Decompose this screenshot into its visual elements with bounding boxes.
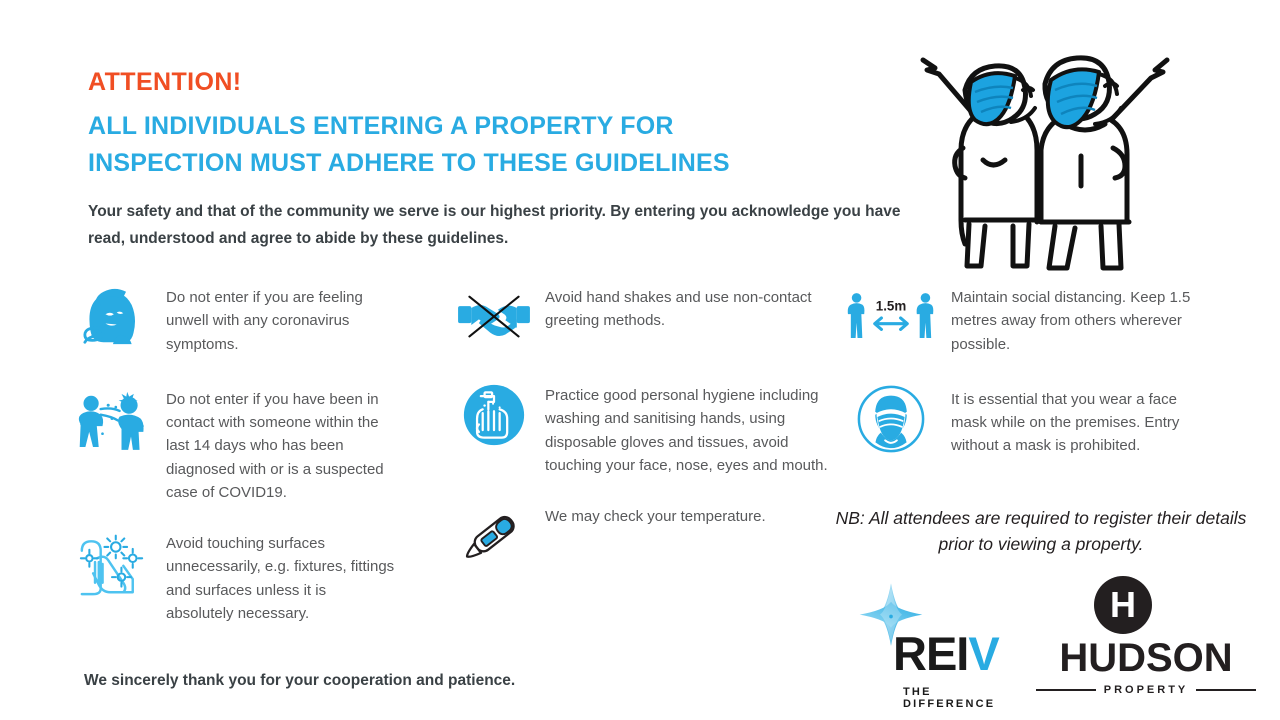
guideline-item: Do not enter if you are feeling unwell w… <box>72 282 412 356</box>
face-mask-person-icon <box>845 384 937 454</box>
hudson-property-logo: H HUDSON PROPERTY <box>1036 576 1256 706</box>
guideline-text: It is essential that you wear a face mas… <box>937 384 1191 458</box>
guideline-text: We may check your temperature. <box>533 501 845 528</box>
rule-left <box>1036 689 1096 691</box>
reiv-word-accent: V <box>968 627 998 680</box>
no-handshake-icon <box>455 282 533 352</box>
guideline-text: Maintain social distancing. Keep 1.5 met… <box>937 282 1191 356</box>
guideline-item: Avoid touching surfaces unnecessarily, e… <box>72 528 412 625</box>
thank-you-text: We sincerely thank you for your cooperat… <box>84 672 515 690</box>
headline-line-2: INSPECTION MUST ADHERE TO THESE GUIDELIN… <box>88 145 808 182</box>
logos-row: REIV THE DIFFERENCE H HUDSON PROPERTY <box>840 572 1260 712</box>
reiv-logo: REIV THE DIFFERENCE <box>845 580 1025 705</box>
guideline-text: Avoid touching surfaces unnecessarily, e… <box>152 528 396 625</box>
hudson-wordmark: HUDSON <box>1036 638 1256 678</box>
guideline-item: Practice good personal hygiene including… <box>455 380 855 477</box>
registration-note: NB: All attendees are required to regist… <box>826 505 1256 558</box>
guideline-text: Practice good personal hygiene including… <box>533 380 845 477</box>
guideline-item: Avoid hand shakes and use non-contact gr… <box>455 282 855 352</box>
reiv-tagline: THE DIFFERENCE <box>903 686 1025 710</box>
hudson-h-badge-icon: H <box>1094 576 1152 634</box>
guideline-item: We may check your temperature. <box>455 501 855 571</box>
social-distancing-icon: 1.5m <box>845 282 937 352</box>
hand-washing-tap-icon <box>455 380 533 450</box>
hudson-subtitle-row: PROPERTY <box>1036 684 1256 696</box>
main-headline: ALL INDIVIDUALS ENTERING A PROPERTY FOR … <box>88 108 808 182</box>
attention-heading: ATTENTION! <box>88 70 242 95</box>
person-sneezing-contact-icon <box>72 384 152 454</box>
headline-line-1: ALL INDIVIDUALS ENTERING A PROPERTY FOR <box>88 112 674 140</box>
guideline-text: Avoid hand shakes and use non-contact gr… <box>533 282 845 333</box>
guideline-item: 1.5m Maintain social distancing. Keep 1.… <box>845 282 1255 356</box>
guidelines-column-3: 1.5m Maintain social distancing. Keep 1.… <box>845 282 1255 482</box>
covid-safety-poster: ATTENTION! ALL INDIVIDUALS ENTERING A PR… <box>0 0 1280 720</box>
guideline-item: It is essential that you wear a face mas… <box>845 384 1255 458</box>
guidelines-column-1: Do not enter if you are feeling unwell w… <box>72 282 412 649</box>
hudson-subtitle: PROPERTY <box>1104 684 1189 696</box>
guideline-text: Do not enter if you have been in contact… <box>152 384 396 504</box>
guideline-text: Do not enter if you are feeling unwell w… <box>152 282 396 356</box>
hand-on-handrail-virus-icon <box>72 528 152 598</box>
distance-label: 1.5m <box>876 298 907 313</box>
hudson-badge-letter: H <box>1110 587 1136 623</box>
thermometer-icon <box>455 501 533 571</box>
reiv-wordmark: REIV <box>893 630 999 677</box>
two-people-masks-celebrating-illustration <box>905 38 1185 273</box>
reiv-word-main: REI <box>893 627 968 680</box>
person-coughing-icon <box>72 282 152 352</box>
guideline-item: Do not enter if you have been in contact… <box>72 384 412 504</box>
intro-paragraph: Your safety and that of the community we… <box>88 198 938 252</box>
rule-right <box>1196 689 1256 691</box>
guidelines-column-2: Avoid hand shakes and use non-contact gr… <box>455 282 855 595</box>
